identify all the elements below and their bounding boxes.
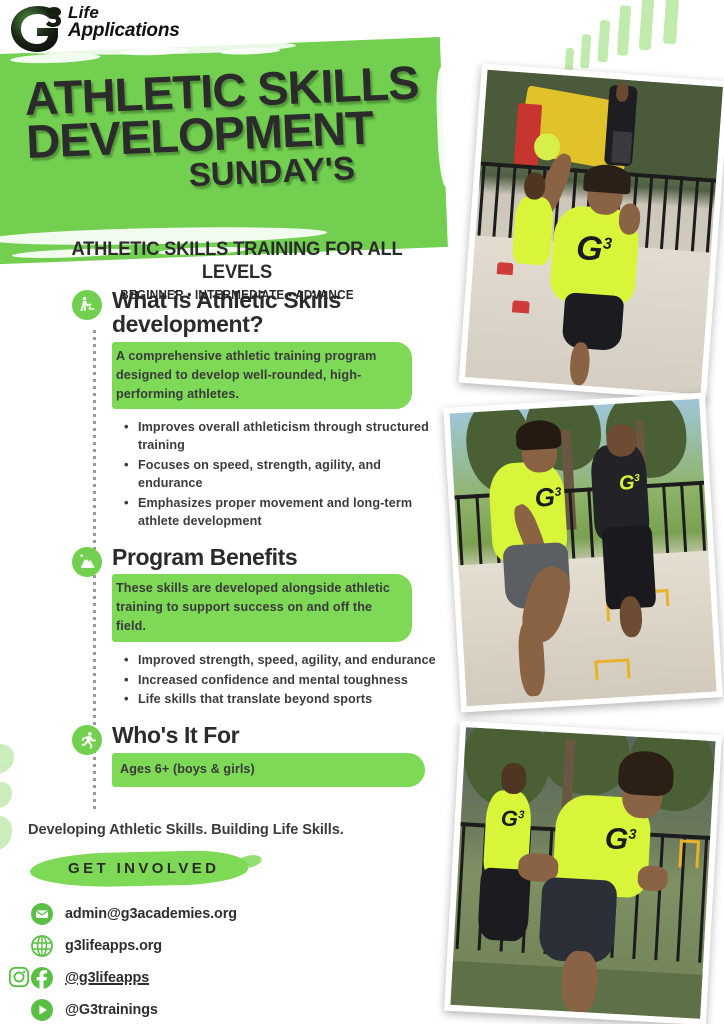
running-person-icon <box>72 725 102 755</box>
flyer-root: Life Applications ATHLETIC SKILLS DEVELO… <box>0 0 724 1024</box>
contact-email[interactable]: admin@g3academies.org <box>30 898 237 930</box>
contact-value: @G3trainings <box>65 1002 158 1018</box>
list-item: Emphasizes proper movement and long-term… <box>124 495 437 531</box>
instagram-icon <box>8 966 30 988</box>
globe-icon <box>30 934 54 958</box>
contact-social-handles[interactable]: @g3lifeapps <box>30 962 237 994</box>
contact-youtube[interactable]: @G3trainings <box>30 994 237 1024</box>
section-title: What is Athletic Skills development? <box>112 288 455 337</box>
section-title: Who's It For <box>112 723 239 747</box>
get-involved-banner: GET INVOLVED <box>30 852 260 888</box>
logo-wordmark: Life Applications <box>68 4 180 41</box>
headline-block: ATHLETIC SKILLS DEVELOPMENT SUNDAY'S <box>24 59 459 198</box>
contact-value: @g3lifeapps <box>65 970 149 986</box>
contact-value: g3lifeapps.org <box>65 938 162 954</box>
section-bullet-list: Improved strength, speed, agility, and e… <box>124 652 437 710</box>
facebook-icon <box>30 966 54 990</box>
section-whos-it-for: Who's It For Ages 6+ (boys & girls) <box>0 723 455 786</box>
list-item: Improves overall athleticism through str… <box>124 419 437 455</box>
section-program-benefits: Program Benefits These skills are develo… <box>0 545 455 710</box>
brand-logo: Life Applications <box>6 2 181 54</box>
section-what-is-athletic-skills-development: What is Athletic Skills development? A c… <box>0 288 455 531</box>
photo-high-knee-drills: G3 G3 <box>443 392 723 712</box>
list-item: Improved strength, speed, agility, and e… <box>124 652 437 670</box>
list-item: Increased confidence and mental toughnes… <box>124 672 437 690</box>
contact-website[interactable]: g3lifeapps.org <box>30 930 237 962</box>
contact-value: admin@g3academies.org <box>65 906 237 922</box>
section-callout: Ages 6+ (boys & girls) <box>112 753 425 787</box>
section-title: Program Benefits <box>112 545 297 569</box>
cta-label: GET INVOLVED <box>68 860 219 877</box>
section-bullet-list: Improves overall athleticism through str… <box>124 419 437 530</box>
section-callout: A comprehensive athletic training progra… <box>112 342 412 410</box>
logo-line-life: Life <box>68 4 180 21</box>
list-item: Focuses on speed, strength, agility, and… <box>124 457 437 493</box>
mountains-icon <box>72 547 102 577</box>
contact-list: admin@g3academies.org g3lifeapps.org <box>30 898 237 1024</box>
list-item: Life skills that translate beyond sports <box>124 691 437 709</box>
subtitle-text: ATHLETIC SKILLS TRAINING FOR ALL LEVELS <box>35 238 439 284</box>
content-sections: What is Athletic Skills development? A c… <box>0 288 455 789</box>
photo-sprint-training: G3 G3 <box>444 721 722 1024</box>
tagline: Developing Athletic Skills. Building Lif… <box>28 822 344 838</box>
logo-line-applications: Applications <box>68 21 180 40</box>
youtube-play-icon <box>30 998 54 1022</box>
athlete-training-icon <box>72 290 102 320</box>
section-callout: These skills are developed alongside ath… <box>112 574 412 642</box>
photo-athlete-catching-ball: G3 <box>459 63 724 400</box>
email-icon <box>30 902 54 926</box>
instagram-facebook-icon <box>30 966 54 990</box>
g3-logo-mark <box>8 4 70 59</box>
